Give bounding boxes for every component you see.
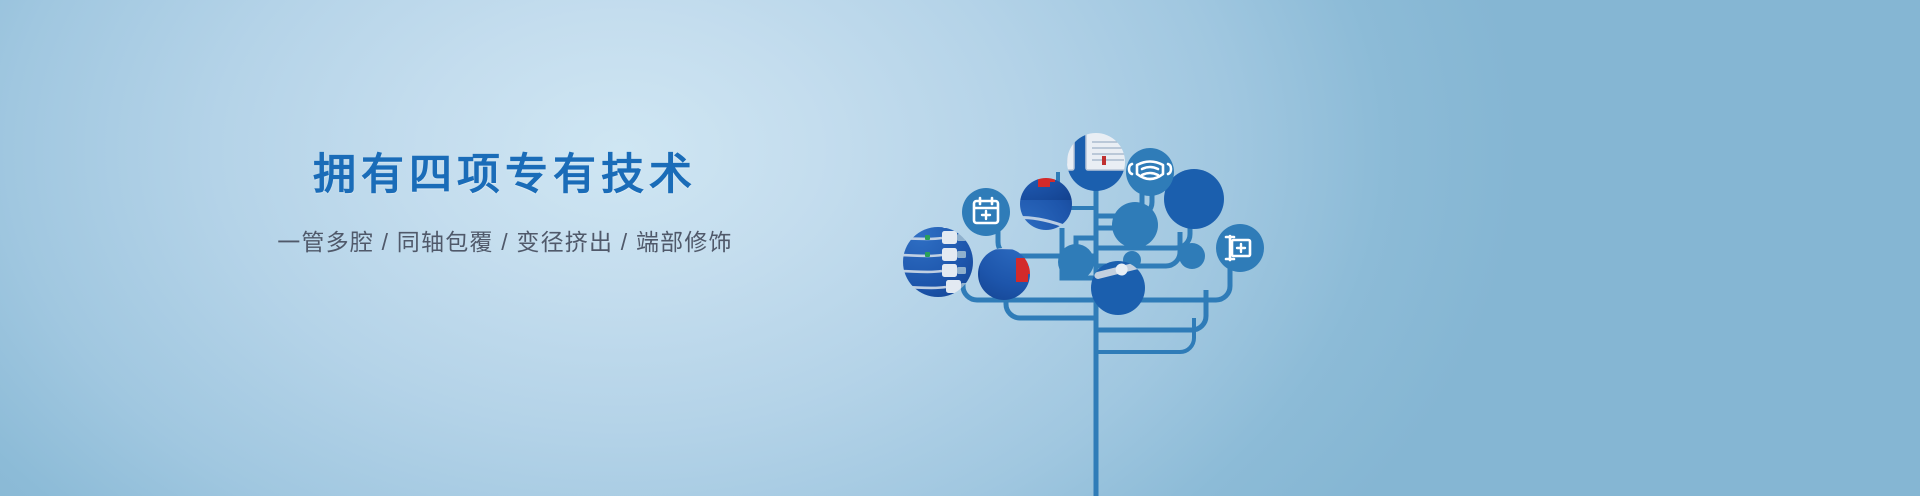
technology-tree-graphic (880, 0, 1920, 496)
medical-mask-icon-node (1126, 148, 1174, 196)
calendar-plus-icon-node (962, 188, 1010, 236)
tree-photo-nodes (903, 133, 1224, 315)
technology-banner: 拥有四项专有技术 一管多腔 / 同轴包覆 / 变径挤出 / 端部修饰 (0, 0, 1920, 496)
catheter-connectors-photo (903, 227, 973, 297)
branch-dot-small (1179, 243, 1205, 269)
balloon-catheter-photo (1091, 261, 1145, 315)
page-title: 拥有四项专有技术 (0, 150, 1010, 202)
sterile-package-photo (1067, 133, 1125, 191)
hospital-sign-icon-node (1216, 224, 1264, 272)
branch-dot-large (1112, 202, 1158, 248)
coiled-tubing-photo (1020, 178, 1072, 230)
valve-assembly-photo (978, 248, 1030, 300)
page-subtitle: 一管多腔 / 同轴包覆 / 变径挤出 / 端部修饰 (0, 226, 1010, 258)
branch-dot-medium (1058, 244, 1094, 280)
banner-text-block: 拥有四项专有技术 一管多腔 / 同轴包覆 / 变径挤出 / 端部修饰 (0, 150, 1010, 258)
